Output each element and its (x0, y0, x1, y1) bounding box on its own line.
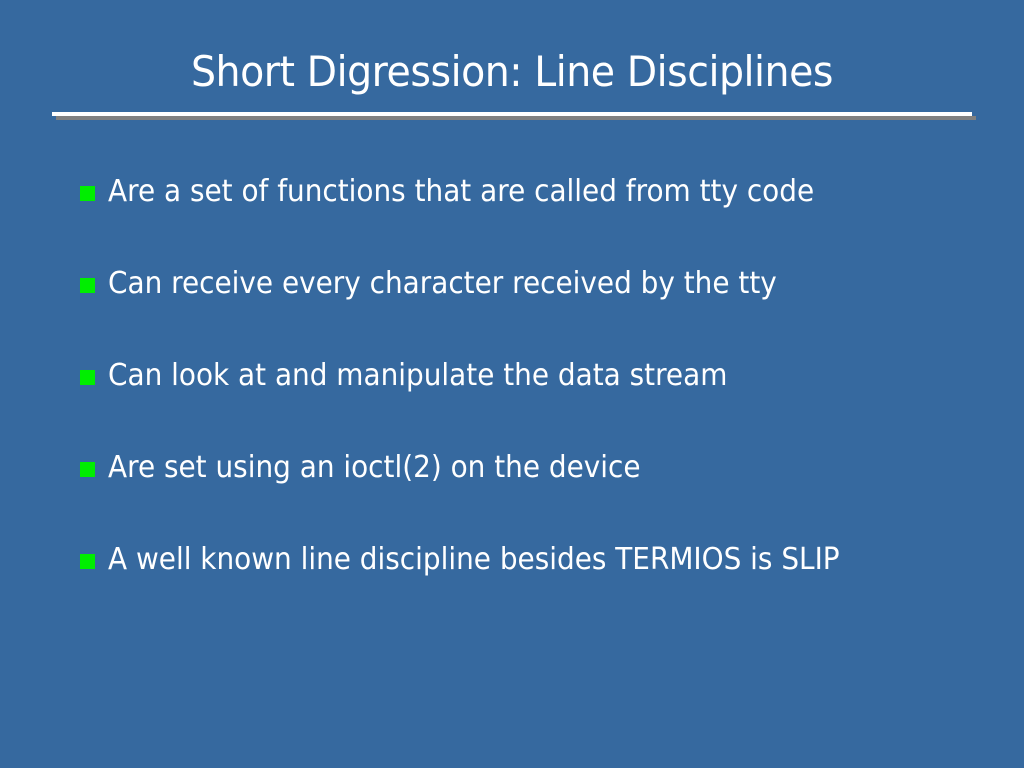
list-item-label: Are set using an ioctl(2) on the device (108, 448, 641, 488)
green-square-bullet-icon (80, 554, 95, 569)
title-block: Short Digression: Line Disciplines (52, 44, 972, 100)
list-item: Can receive every character received by … (80, 264, 980, 356)
list-item-label: Are a set of functions that are called f… (108, 172, 814, 212)
list-item: A well known line discipline besides TER… (80, 540, 980, 632)
list-item: Are set using an ioctl(2) on the device (80, 448, 980, 540)
list-item-label: Can look at and manipulate the data stre… (108, 356, 727, 396)
slide-title: Short Digression: Line Disciplines (80, 44, 945, 100)
list-item: Are a set of functions that are called f… (80, 172, 980, 264)
title-underline-shadow (56, 116, 976, 120)
list-item: Can look at and manipulate the data stre… (80, 356, 980, 448)
green-square-bullet-icon (80, 462, 95, 477)
list-item-label: A well known line discipline besides TER… (108, 540, 840, 580)
green-square-bullet-icon (80, 370, 95, 385)
presentation-slide: Short Digression: Line Disciplines Are a… (0, 0, 1024, 768)
bullet-list: Are a set of functions that are called f… (80, 172, 980, 632)
green-square-bullet-icon (80, 186, 95, 201)
title-underline (52, 112, 972, 116)
list-item-label: Can receive every character received by … (108, 264, 777, 304)
green-square-bullet-icon (80, 278, 95, 293)
